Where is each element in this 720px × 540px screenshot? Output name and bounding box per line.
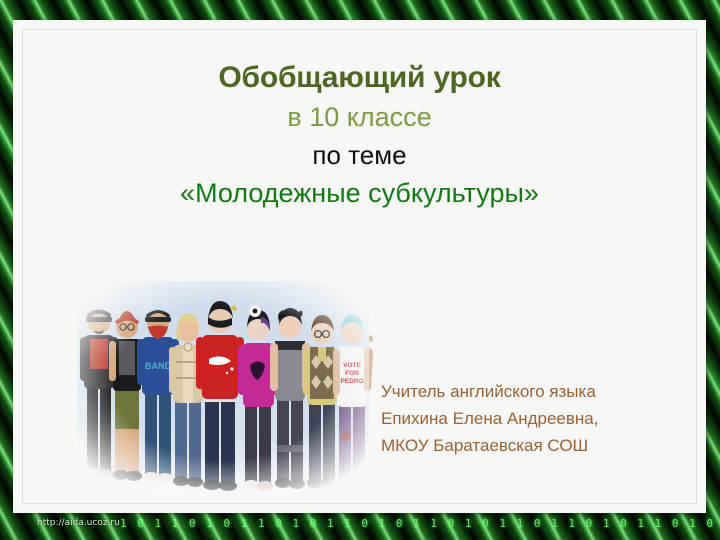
teacher-credits-block: Учитель английского языка Епихина Елена … bbox=[381, 378, 681, 459]
slide-title-block: Обобщающий урок в 10 классе по теме «Мол… bbox=[43, 58, 676, 212]
title-line-grade: в 10 классе bbox=[43, 98, 676, 136]
title-line-main: Обобщающий урок bbox=[43, 58, 676, 98]
youth-subcultures-illustration: BAND bbox=[69, 277, 376, 503]
source-watermark: http://aida.ucoz.ru bbox=[37, 518, 120, 528]
presentation-slide: Обобщающий урок в 10 классе по теме «Мол… bbox=[13, 20, 706, 513]
matrix-glyph-row: 1 0 1 1 0 1 0 1 1 0 1 0 1 1 0 1 0 1 1 0 … bbox=[120, 518, 720, 530]
credit-line-name: Епихина Елена Андреевна, bbox=[381, 405, 681, 432]
title-line-topic-label: по теме bbox=[43, 136, 676, 174]
title-line-topic-name: «Молодежные субкультуры» bbox=[43, 174, 676, 212]
credit-line-school: МКОУ Баратаевская СОШ bbox=[381, 432, 681, 459]
credit-line-role: Учитель английского языка bbox=[381, 378, 681, 405]
youth-subcultures-illustration-svg: BAND bbox=[69, 277, 376, 503]
